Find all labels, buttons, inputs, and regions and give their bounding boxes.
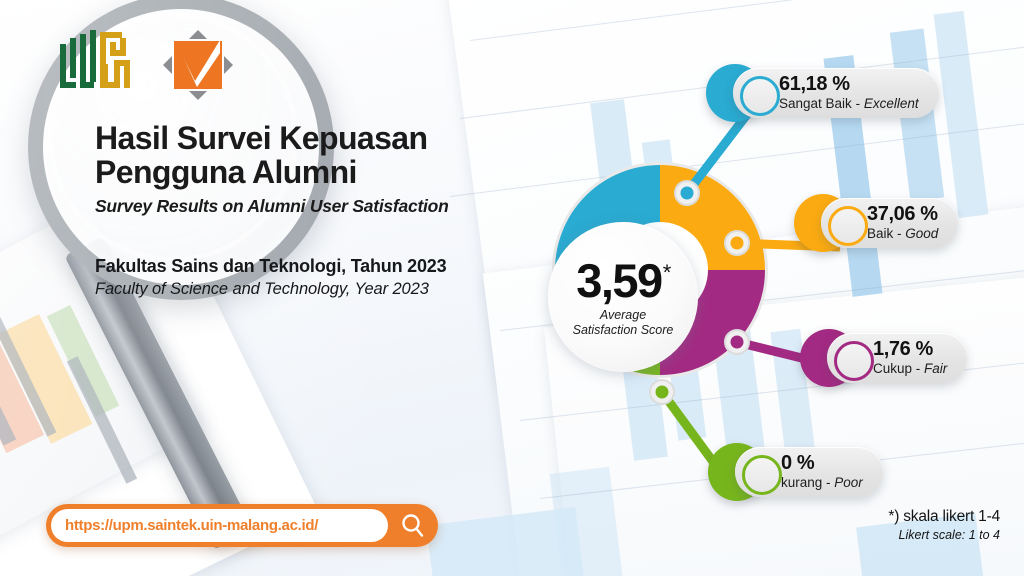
connector-dot-excellent [681,187,694,200]
callout-value-excellent: 61,18 % [779,74,919,95]
callout-label-fair: Cukup - Fair [873,361,947,377]
url-input[interactable]: https://upm.saintek.uin-malang.ac.id/ [51,509,388,542]
callout-label-sep: - [893,226,905,241]
score-asterisk: * [663,260,670,285]
score-number: 3,59 [576,254,661,307]
callout-value-poor: 0 % [781,453,863,474]
callout-label-sep: - [912,361,924,376]
faculty-line-en: Faculty of Science and Technology, Year … [95,280,525,299]
callout-label-en: Excellent [864,96,919,111]
search-button[interactable] [388,504,438,547]
faculty-block: Fakultas Sains dan Teknologi, Tahun 2023… [95,256,525,299]
infographic-canvas: Hasil Survei Kepuasan Pengguna Alumni Su… [0,0,1024,576]
callout-pill-poor: 0 % kurang - Poor [735,447,883,497]
callout-pill-excellent: 61,18 % Sangat Baik - Excellent [733,68,939,118]
callout-good[interactable]: 37,06 % Baik - Good [794,194,958,252]
title-line-1: Hasil Survei Kepuasan [95,122,525,156]
footnote-line-en: Likert scale: 1 to 4 [888,528,1000,542]
callout-label-en: Poor [834,475,863,490]
callout-label-sep: - [852,96,864,111]
checkmark-square-icon [162,29,234,101]
callout-value-fair: 1,76 % [873,339,947,360]
faculty-line-id: Fakultas Sains dan Teknologi, Tahun 2023 [95,256,525,277]
callout-label-sep: - [822,475,834,490]
website-url-bar[interactable]: https://upm.saintek.uin-malang.ac.id/ [46,504,438,547]
callout-label-en: Fair [924,361,947,376]
search-icon [400,513,426,539]
upm-checkmark-logo [162,29,234,101]
callout-label-id: kurang [781,475,822,490]
callout-label-id: Cukup [873,361,912,376]
title-subtitle: Survey Results on Alumni User Satisfacti… [95,196,525,217]
connector-dot-poor [656,386,669,399]
connector-dot-fair [731,336,744,349]
callout-pill-fair: 1,76 % Cukup - Fair [827,333,967,383]
callout-label-id: Sangat Baik [779,96,852,111]
title-line-2: Pengguna Alumni [95,156,525,190]
footnote-line-id: *) skala likert 1-4 [888,508,1000,526]
likert-footnote: *) skala likert 1-4 Likert scale: 1 to 4 [888,508,1000,542]
page-title: Hasil Survei Kepuasan Pengguna Alumni Su… [95,122,525,217]
score-label-line-1: Average [573,308,674,323]
callout-label-en: Good [905,226,938,241]
callout-pill-good: 37,06 % Baik - Good [821,198,958,248]
connector-dot-good [731,237,744,250]
callout-ring-fair [834,341,874,381]
callout-ring-good [828,206,868,246]
callout-ring-excellent [740,76,780,116]
average-score-label: Average Satisfaction Score [573,308,674,338]
callout-label-good: Baik - Good [867,226,938,242]
callout-fair[interactable]: 1,76 % Cukup - Fair [800,329,967,387]
url-text: https://upm.saintek.uin-malang.ac.id/ [65,517,318,534]
logo-group [58,26,234,104]
callout-label-id: Baik [867,226,893,241]
average-score-circle: 3,59* Average Satisfaction Score [548,222,698,372]
callout-value-good: 37,06 % [867,204,938,225]
callout-ring-poor [742,455,782,495]
callout-label-excellent: Sangat Baik - Excellent [779,96,919,112]
callout-label-poor: kurang - Poor [781,475,863,491]
callout-excellent[interactable]: 61,18 % Sangat Baik - Excellent [706,64,939,122]
uin-malang-kufic-logo [58,26,140,104]
score-label-line-2: Satisfaction Score [573,323,674,338]
average-score-value: 3,59* [576,257,670,304]
callout-poor[interactable]: 0 % kurang - Poor [708,443,883,501]
